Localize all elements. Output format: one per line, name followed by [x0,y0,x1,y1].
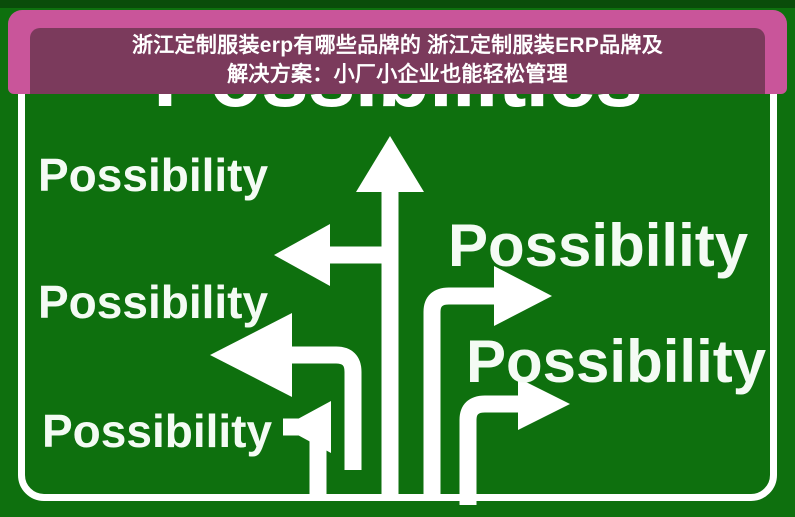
arrowhead-left-lower [283,401,331,453]
label-possibility-left-top: Possibility [38,152,268,198]
title-banner-inner: 浙江定制服装erp有哪些品牌的 浙江定制服装ERP品牌及 解决方案：小厂小企业也… [30,28,765,94]
label-possibility-right-top: Possibility [448,216,748,276]
page-title-line-2: 解决方案：小厂小企业也能轻松管理 [132,61,663,90]
page-title-line-1: 浙江定制服装erp有哪些品牌的 浙江定制服装ERP品牌及 [132,34,663,57]
arrow-branch-right-lower-line [468,404,523,505]
label-possibility-left-middle: Possibility [38,279,268,325]
arrowhead-left-upper [274,224,330,286]
label-possibility-right-bottom: Possibility [466,332,766,392]
title-banner: 浙江定制服装erp有哪些品牌的 浙江定制服装ERP品牌及 解决方案：小厂小企业也… [8,10,787,94]
signpost-image: Possibilities Pos [0,0,795,517]
label-possibility-left-bottom: Possibility [42,408,272,454]
arrowhead-up [356,136,424,192]
page-title: 浙江定制服装erp有哪些品牌的 浙江定制服装ERP品牌及 解决方案：小厂小企业也… [126,32,669,89]
